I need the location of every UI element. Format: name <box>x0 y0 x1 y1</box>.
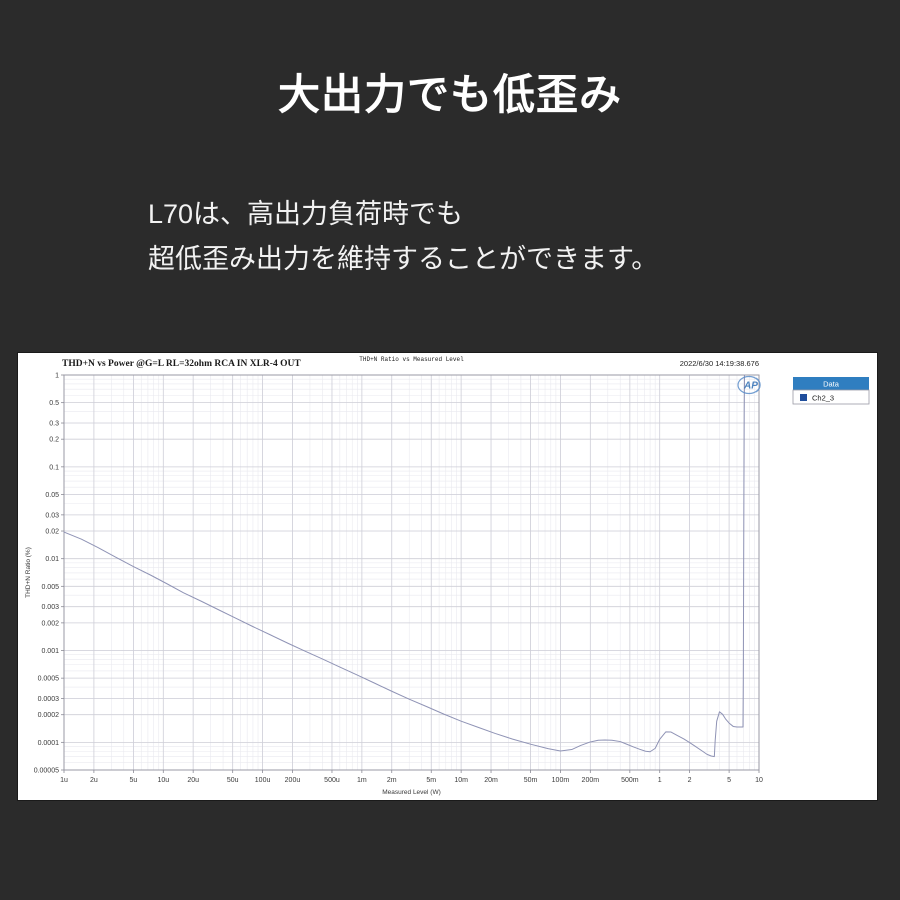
y-tick-label: 0.00005 <box>34 768 59 775</box>
plot-title: THD+N vs Power @G=L RL=32ohm RCA IN XLR-… <box>62 359 301 369</box>
y-tick-label: 0.01 <box>45 556 59 563</box>
y-tick-label: 0.002 <box>41 620 59 627</box>
y-tick-label: 0.001 <box>41 648 59 655</box>
y-tick-label: 0.03 <box>45 512 59 519</box>
y-tick-label: 0.05 <box>45 492 59 499</box>
grid-major <box>64 375 759 770</box>
chart-legend[interactable]: DataCh2_3 <box>793 377 869 404</box>
y-tick-label: 0.0005 <box>38 676 60 683</box>
y-axis-ticks: 10.50.30.20.10.050.030.020.010.0050.0030… <box>34 373 64 775</box>
chart-center-title: THD+N Ratio vs Measured Level <box>359 356 464 363</box>
y-tick-label: 0.005 <box>41 584 59 591</box>
hero-body-copy: L70は、高出力負荷時でも 超低歪み出力を維持することができます。 <box>148 192 848 281</box>
y-tick-label: 0.0002 <box>38 712 60 719</box>
x-tick-label: 100u <box>255 777 271 784</box>
x-tick-label: 1m <box>357 777 367 784</box>
y-tick-label: 0.0003 <box>38 696 60 703</box>
x-tick-label: 2m <box>387 777 397 784</box>
y-tick-label: 0.1 <box>49 464 59 471</box>
x-tick-label: 500m <box>621 777 639 784</box>
plot-frame <box>64 375 759 770</box>
legend-header: Data <box>823 380 840 389</box>
hero-body-line-1: L70は、高出力負荷時でも <box>148 192 848 237</box>
x-tick-label: 50u <box>227 777 239 784</box>
chart-panel: 1u2u5u10u20u50u100u200u500u1m2m5m10m20m5… <box>18 353 877 800</box>
x-tick-label: 5u <box>129 777 137 784</box>
x-tick-label: 500u <box>324 777 340 784</box>
x-tick-label: 10u <box>157 777 169 784</box>
chart-timestamp: 2022/6/30 14:19:38.676 <box>680 359 759 368</box>
y-tick-label: 0.0001 <box>38 740 60 747</box>
legend-item-label: Ch2_3 <box>812 394 834 403</box>
ap-logo-text: AP <box>743 381 758 392</box>
y-tick-label: 0.5 <box>49 400 59 407</box>
hero-body-line-2: 超低歪み出力を維持することができます。 <box>148 237 848 282</box>
x-tick-label: 100m <box>552 777 570 784</box>
y-tick-label: 1 <box>55 373 59 380</box>
x-tick-label: 200m <box>582 777 600 784</box>
x-tick-label: 1 <box>658 777 662 784</box>
grid-minor <box>64 375 759 770</box>
x-axis-title: Measured Level (W) <box>382 789 441 796</box>
x-tick-label: 1u <box>60 777 68 784</box>
x-tick-label: 10m <box>454 777 468 784</box>
x-tick-label: 200u <box>285 777 301 784</box>
x-tick-label: 20m <box>484 777 498 784</box>
y-tick-label: 0.02 <box>45 529 59 536</box>
y-axis-title: THD+N Ratio (%) <box>25 547 32 598</box>
legend-swatch <box>800 394 807 401</box>
x-tick-label: 50m <box>524 777 538 784</box>
x-tick-label: 20u <box>187 777 199 784</box>
x-tick-label: 5m <box>426 777 436 784</box>
x-axis-ticks: 1u2u5u10u20u50u100u200u500u1m2m5m10m20m5… <box>60 770 763 784</box>
x-tick-label: 10 <box>755 777 763 784</box>
page-headline: 大出力でも低歪み <box>0 72 900 118</box>
thd-vs-power-chart: 1u2u5u10u20u50u100u200u500u1m2m5m10m20m5… <box>18 353 877 800</box>
series-line-Ch2_3 <box>64 375 745 757</box>
hero-section: 大出力でも低歪み L70は、高出力負荷時でも 超低歪み出力を維持することができま… <box>0 0 900 353</box>
y-tick-label: 0.003 <box>41 604 59 611</box>
x-tick-label: 2 <box>688 777 692 784</box>
x-tick-label: 5 <box>727 777 731 784</box>
x-tick-label: 2u <box>90 777 98 784</box>
y-tick-label: 0.2 <box>49 437 59 444</box>
y-tick-label: 0.3 <box>49 421 59 428</box>
